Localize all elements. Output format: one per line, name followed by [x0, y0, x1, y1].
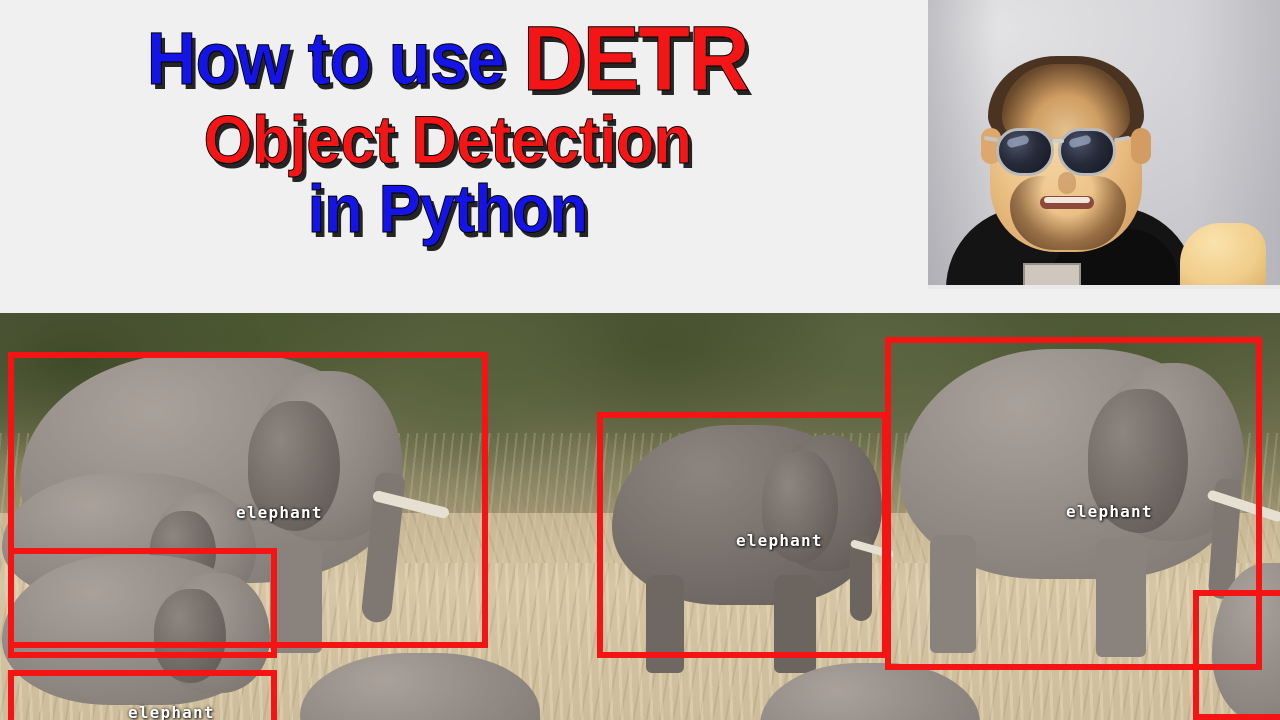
elephant-8 — [760, 663, 980, 720]
sunglasses-icon — [996, 128, 1140, 178]
detection-label-3: elephant — [128, 703, 215, 720]
sunglasses-lens-left — [996, 128, 1054, 176]
title-line-2-text: Object Detection — [204, 102, 692, 178]
webcam-bottom-edge — [928, 285, 1280, 289]
title-line-1: How to use DETR — [31, 14, 863, 105]
elephant-7 — [300, 653, 540, 720]
title-line-3: in Python — [31, 176, 863, 243]
title-line-3-in: in — [308, 171, 379, 247]
detection-label-1: elephant — [236, 503, 323, 522]
title-line-2: Object Detection — [31, 107, 863, 174]
title-line-3-python: Python — [379, 171, 588, 247]
detection-label-4: elephant — [736, 531, 823, 550]
elephant-7-body — [300, 653, 540, 720]
detection-box-2[interactable] — [8, 548, 277, 658]
elephant-detection-photo: elephant elephant elephant elephant — [0, 313, 1280, 720]
sunglasses-lens-right — [1058, 128, 1116, 176]
title-line-1-blue: How to use — [147, 17, 523, 100]
lens-glint-right — [1068, 134, 1092, 148]
title-line-1-detr: DETR — [523, 8, 748, 110]
presenter-webcam-inset — [928, 0, 1280, 289]
sunglasses-bridge — [1052, 139, 1064, 143]
header-banner: How to use DETR Object Detection in Pyth… — [0, 0, 1280, 313]
elephant-8-body — [760, 663, 980, 720]
detection-label-5: elephant — [1066, 502, 1153, 521]
page-title: How to use DETR Object Detection in Pyth… — [0, 14, 895, 244]
detection-box-6[interactable] — [1193, 590, 1280, 720]
thumbnail-stage: How to use DETR Object Detection in Pyth… — [0, 0, 1280, 720]
sunglasses-temple-right — [1114, 136, 1130, 143]
presenter-teeth — [1044, 197, 1090, 203]
presenter-hand — [1180, 223, 1266, 289]
lens-glint-left — [1006, 134, 1030, 148]
